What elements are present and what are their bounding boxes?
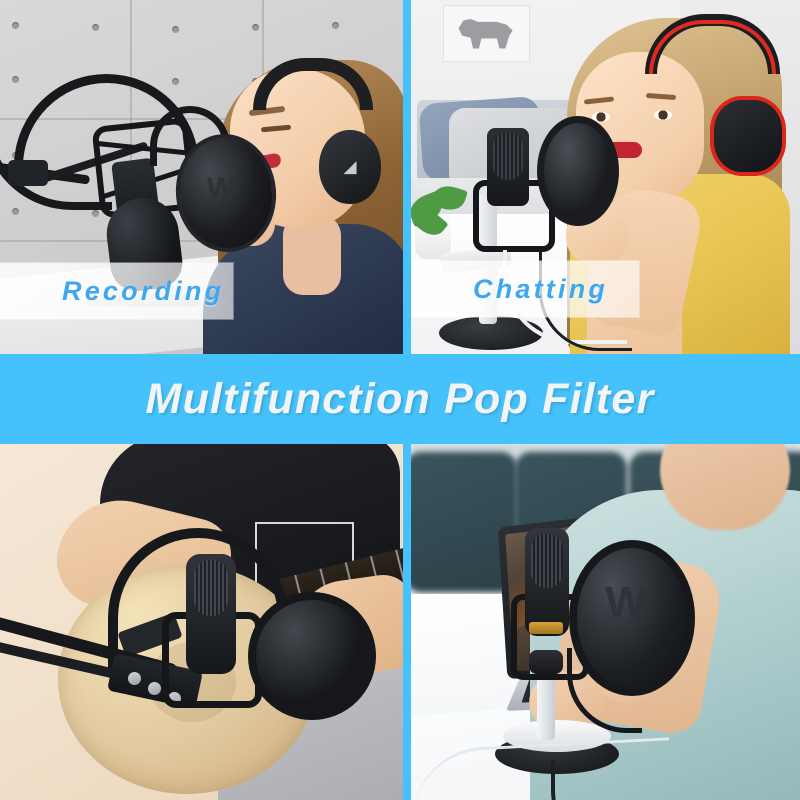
desk-clamp xyxy=(8,160,48,186)
microphone-grille xyxy=(531,534,563,588)
wall-bolt xyxy=(332,22,339,29)
wall-bolt xyxy=(172,26,179,33)
wall-bolt xyxy=(92,210,99,217)
caption-band-recording: Recording xyxy=(0,263,233,319)
pop-filter-logo-icon: W xyxy=(204,172,238,206)
panel-podcasting: Podcasting xyxy=(0,444,403,800)
microphone-grille xyxy=(194,560,228,616)
headphone-logo-icon: ◢ xyxy=(341,158,359,176)
pop-filter xyxy=(537,116,619,226)
person-eye xyxy=(654,110,672,120)
wall-bolt xyxy=(252,24,259,31)
black-cable xyxy=(551,760,675,800)
gaming-scene-photo: W xyxy=(411,444,800,800)
adjustment-knob xyxy=(128,672,141,685)
caption-band-chatting: Chatting xyxy=(411,261,639,317)
microphone-gold-band xyxy=(529,622,563,634)
wall-bolt xyxy=(12,76,19,83)
banner-title: Multifunction Pop Filter xyxy=(146,375,655,424)
podcasting-scene-photo xyxy=(0,444,403,800)
wall-bolt xyxy=(12,208,19,215)
center-banner: Multifunction Pop Filter xyxy=(0,354,800,444)
wall-bolt xyxy=(172,78,179,85)
pop-filter-logo-icon: W xyxy=(603,580,649,626)
caption-label-chatting: Chatting xyxy=(411,274,608,305)
product-feature-collage: ◢ W Recording xyxy=(0,0,800,800)
panel-chatting: Chatting xyxy=(411,0,800,354)
panel-gaming: W Gaming xyxy=(411,444,800,800)
divider-vertical-bottom xyxy=(403,443,411,800)
caption-label-recording: Recording xyxy=(0,276,224,307)
headphones-earcup xyxy=(710,96,786,176)
divider-vertical-top xyxy=(403,0,411,355)
panel-recording: ◢ W Recording xyxy=(0,0,403,354)
wall-bolt xyxy=(12,22,19,29)
adjustment-knob xyxy=(148,682,161,695)
pop-filter xyxy=(248,592,376,720)
wall-bolt xyxy=(92,24,99,31)
microphone-grille xyxy=(493,132,523,180)
